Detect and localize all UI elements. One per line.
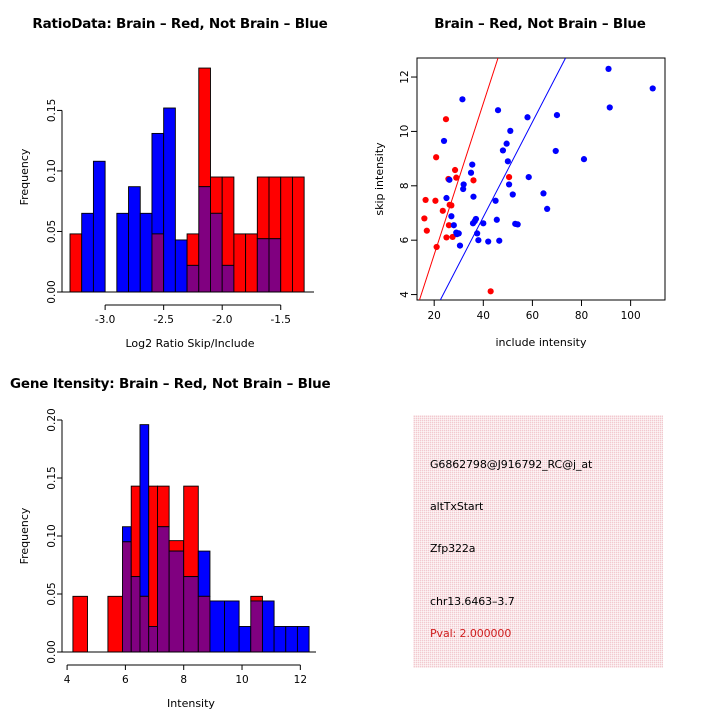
figure-canvas: RatioData: Brain – Red, Not Brain – Blue…: [0, 0, 720, 720]
x-tick-label: 4: [64, 674, 71, 686]
histogram-bar: [164, 108, 176, 292]
scatter-point: [470, 194, 476, 200]
scatter-point: [605, 66, 611, 72]
scatter-point: [433, 154, 439, 160]
y-tick-label: 0.05: [46, 582, 58, 605]
histogram-bar-overlap: [269, 239, 281, 292]
y-tick-label: 0.10: [46, 159, 58, 182]
x-tick-label: 20: [428, 310, 441, 322]
scatter-point: [446, 177, 452, 183]
scatter-point: [494, 217, 500, 223]
scatter-point: [457, 243, 463, 249]
histogram-bar: [140, 425, 149, 597]
scatter-point: [607, 104, 613, 110]
histogram-bar: [251, 596, 263, 601]
scatter-point: [540, 190, 546, 196]
histogram-bar: [152, 133, 164, 233]
histogram-bar: [222, 177, 234, 265]
y-axis-label: Frequency: [18, 148, 31, 205]
histogram-bar-overlap: [152, 234, 164, 292]
scatter-point: [650, 85, 656, 91]
scatter-point: [495, 107, 501, 113]
x-tick-label: -1.5: [270, 314, 291, 326]
histogram-bar: [234, 234, 246, 292]
histogram-bar: [257, 177, 269, 239]
scatter-point: [496, 238, 502, 244]
x-tick-label: 60: [526, 310, 539, 322]
y-tick-label: 6: [399, 237, 411, 244]
histogram-bar-overlap: [131, 577, 140, 652]
scatter-point: [500, 147, 506, 153]
scatter-point: [461, 181, 467, 187]
y-tick-label: 0.00: [46, 640, 58, 663]
scatter-point: [544, 206, 550, 212]
x-tick-label: 40: [477, 310, 490, 322]
histogram-bar: [131, 486, 140, 576]
y-tick-label: 0.20: [46, 408, 58, 431]
scatter-point: [443, 195, 449, 201]
scatter-point: [441, 138, 447, 144]
histogram-bar: [169, 541, 184, 551]
scatter-point: [507, 128, 513, 134]
histogram-bar: [274, 626, 286, 652]
scatter-point: [424, 228, 430, 234]
histogram-bar: [281, 177, 293, 292]
scatter-point: [554, 112, 560, 118]
locus-text: chr13.6463–3.7: [430, 595, 515, 608]
histogram-bar: [198, 551, 210, 596]
y-axis-label: Frequency: [18, 507, 31, 564]
scatter-point: [432, 198, 438, 204]
y-tick-label: 0.05: [46, 220, 58, 243]
gene-intensity-plot: 0.000.050.100.150.20Frequency4681012Inte…: [0, 360, 360, 720]
scatter-point: [524, 114, 530, 120]
histogram-bar: [199, 68, 211, 187]
histogram-bar: [122, 527, 131, 542]
x-tick-label: 80: [575, 310, 588, 322]
y-tick-label: 0.15: [46, 99, 58, 122]
histogram-bar: [129, 187, 141, 292]
scatter-point: [452, 167, 458, 173]
histogram-bar: [93, 161, 105, 292]
scatter-point: [443, 234, 449, 240]
histogram-bar: [246, 234, 258, 292]
scatter-point: [448, 213, 454, 219]
histogram-bar-overlap: [222, 265, 234, 292]
scatter-point: [488, 288, 494, 294]
histogram-bar-overlap: [184, 577, 199, 652]
scatter-point: [473, 216, 479, 222]
histogram-bar: [187, 234, 199, 265]
histogram-bar: [117, 213, 129, 292]
x-tick-label: -2.0: [212, 314, 233, 326]
histogram-bar-overlap: [210, 213, 222, 292]
x-tick-label: -2.5: [153, 314, 174, 326]
y-tick-label: 12: [399, 70, 411, 83]
histogram-bar: [140, 213, 152, 292]
histogram-bar-overlap: [157, 527, 169, 652]
scatter-point: [474, 230, 480, 236]
histogram-bar: [184, 486, 199, 576]
y-tick-label: 0.15: [46, 466, 58, 489]
histogram-bar: [262, 601, 274, 652]
probe-info-box: G6862798@J916792_RC@j_at altTxStart Zfp3…: [413, 415, 663, 668]
histogram-bar-overlap: [187, 265, 199, 292]
x-axis-label: include intensity: [495, 336, 587, 349]
scatter-point: [421, 215, 427, 221]
x-tick-label: 100: [621, 310, 641, 322]
scatter-point: [440, 208, 446, 214]
scatter-point: [470, 177, 476, 183]
probe-id-text: G6862798@J916792_RC@j_at: [430, 458, 592, 471]
x-tick-label: -3.0: [95, 314, 116, 326]
scatter-point: [475, 237, 481, 243]
x-axis-label: Intensity: [167, 697, 215, 710]
panel-probe-info: G6862798@J916792_RC@j_at altTxStart Zfp3…: [360, 360, 720, 720]
x-tick-label: 6: [122, 674, 129, 686]
panel-ratio-histogram: RatioData: Brain – Red, Not Brain – Blue…: [0, 0, 360, 360]
scatter-point: [504, 141, 510, 147]
scatter-point: [553, 148, 559, 154]
histogram-bar: [175, 240, 187, 292]
scatter-point: [448, 202, 454, 208]
panel-gene-intensity-histogram: Gene Itensity: Brain – Red, Not Brain – …: [0, 360, 360, 720]
scatter-point: [485, 238, 491, 244]
histogram-bar-overlap: [199, 187, 211, 292]
y-tick-label: 8: [399, 182, 411, 189]
histogram-bar: [108, 596, 123, 652]
scatter-point: [510, 191, 516, 197]
scatter-point: [505, 158, 511, 164]
histogram-bar: [292, 177, 304, 292]
scatter-point: [526, 174, 532, 180]
scatter-point: [443, 116, 449, 122]
panel-intensity-scatter: Brain – Red, Not Brain – Blue 4681012ski…: [360, 0, 720, 360]
scatter-point: [456, 230, 462, 236]
scatter-point: [469, 161, 475, 167]
scatter-point: [506, 181, 512, 187]
histogram-bar: [70, 234, 82, 292]
x-tick-label: 12: [294, 674, 307, 686]
histogram-bar-overlap: [257, 239, 269, 292]
event-type-text: altTxStart: [430, 500, 483, 513]
histogram-bar-overlap: [122, 542, 131, 652]
histogram-bar: [286, 626, 298, 652]
histogram-bar: [269, 177, 281, 239]
pvalue-text: Pval: 2.000000: [430, 627, 511, 640]
histogram-bar: [225, 601, 240, 652]
histogram-bar: [157, 486, 169, 527]
histogram-bar-overlap: [149, 626, 158, 652]
y-tick-label: 0.00: [46, 280, 58, 303]
scatter-point: [459, 96, 465, 102]
y-axis-label: skip intensity: [373, 142, 386, 216]
x-axis-label: Log2 Ratio Skip/Include: [125, 337, 254, 350]
scatter-point: [581, 156, 587, 162]
gene-symbol-text: Zfp322a: [430, 542, 475, 555]
histogram-bar: [210, 177, 222, 213]
histogram-bar: [149, 486, 158, 626]
scatter-point: [434, 244, 440, 250]
histogram-bar-overlap: [251, 601, 263, 652]
scatter-point: [515, 221, 521, 227]
scatter-point: [506, 174, 512, 180]
scatter-point: [492, 198, 498, 204]
scatter-point: [422, 197, 428, 203]
histogram-bar-overlap: [198, 596, 210, 652]
histogram-bar-overlap: [169, 551, 184, 652]
ratio-histogram-plot: 0.000.050.100.15Frequency-3.0-2.5-2.0-1.…: [0, 0, 360, 360]
scatter-point: [453, 175, 459, 181]
y-tick-label: 4: [399, 291, 411, 298]
histogram-bar: [239, 626, 251, 652]
x-tick-label: 10: [235, 674, 248, 686]
histogram-bar-overlap: [140, 596, 149, 652]
histogram-bar: [73, 596, 88, 652]
histogram-bar: [210, 601, 225, 652]
y-tick-label: 10: [399, 125, 411, 138]
intensity-scatter-plot: 4681012skip intensity20406080100include …: [360, 0, 720, 360]
scatter-point: [468, 170, 474, 176]
scatter-point: [451, 222, 457, 228]
y-tick-label: 0.10: [46, 524, 58, 547]
histogram-bar: [82, 213, 94, 292]
scatter-point: [480, 220, 486, 226]
x-tick-label: 8: [180, 674, 187, 686]
histogram-bar: [297, 626, 309, 652]
